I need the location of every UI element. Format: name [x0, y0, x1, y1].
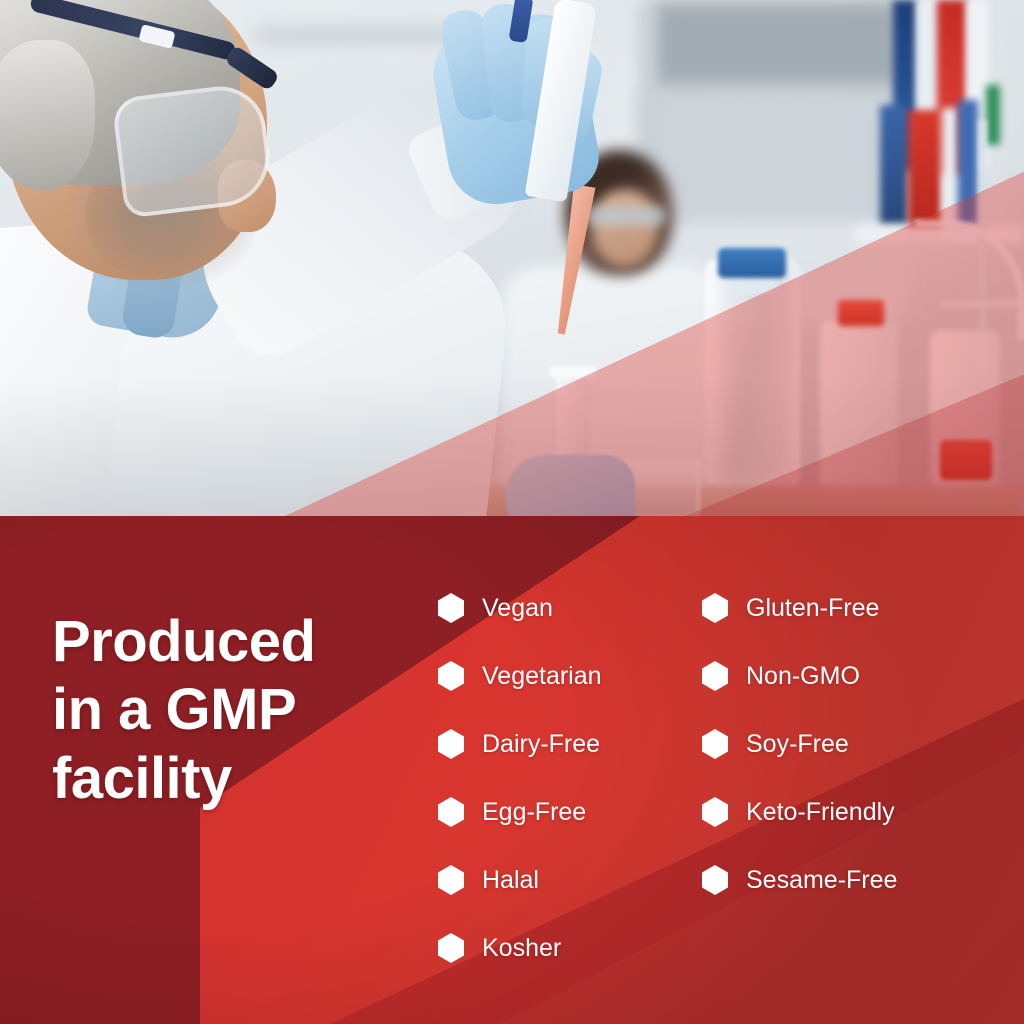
hexagon-icon — [438, 797, 464, 827]
hexagon-icon — [702, 797, 728, 827]
headline-line-1: Produced — [52, 608, 422, 676]
hexagon-icon — [702, 729, 728, 759]
list-item: Halal — [438, 846, 694, 914]
list-item: Dairy-Free — [438, 710, 694, 778]
list-item-label: Soy-Free — [746, 732, 849, 757]
lab-photo — [0, 0, 1024, 520]
hexagon-icon — [438, 729, 464, 759]
certification-column-right: Gluten-Free Non-GMO Soy-Free Keto-Friend… — [702, 574, 958, 982]
hexagon-icon — [702, 865, 728, 895]
list-item-label: Vegan — [482, 596, 553, 621]
page-title: Produced in a GMP facility — [52, 608, 422, 813]
hexagon-icon — [438, 933, 464, 963]
headline-line-2: in a GMP — [52, 676, 422, 744]
list-item-label: Sesame-Free — [746, 868, 897, 893]
list-item: Vegetarian — [438, 642, 694, 710]
hexagon-icon — [702, 593, 728, 623]
hexagon-icon — [438, 593, 464, 623]
headline-line-3: facility — [52, 745, 422, 813]
list-item-label: Non-GMO — [746, 664, 860, 689]
list-item-label: Dairy-Free — [482, 732, 600, 757]
list-item: Soy-Free — [702, 710, 958, 778]
hexagon-icon — [438, 865, 464, 895]
list-item: Keto-Friendly — [702, 778, 958, 846]
list-item: Sesame-Free — [702, 846, 958, 914]
list-item: Egg-Free — [438, 778, 694, 846]
list-item: Kosher — [438, 914, 694, 982]
certification-column-left: Vegan Vegetarian Dairy-Free Egg-Free Hal… — [438, 574, 694, 982]
list-item: Gluten-Free — [702, 574, 958, 642]
list-item-label: Halal — [482, 868, 539, 893]
list-item-label: Keto-Friendly — [746, 800, 895, 825]
list-item-label: Vegetarian — [482, 664, 602, 689]
hexagon-icon — [702, 661, 728, 691]
list-item-label: Egg-Free — [482, 800, 586, 825]
list-item-label: Gluten-Free — [746, 596, 879, 621]
promo-graphic: Produced in a GMP facility Vegan Vegetar… — [0, 0, 1024, 1024]
hexagon-icon — [438, 661, 464, 691]
certification-banner: Produced in a GMP facility Vegan Vegetar… — [0, 516, 1024, 1024]
list-item: Non-GMO — [702, 642, 958, 710]
certification-list: Vegan Vegetarian Dairy-Free Egg-Free Hal… — [438, 574, 998, 982]
list-item: Vegan — [438, 574, 694, 642]
list-item-label: Kosher — [482, 936, 561, 961]
